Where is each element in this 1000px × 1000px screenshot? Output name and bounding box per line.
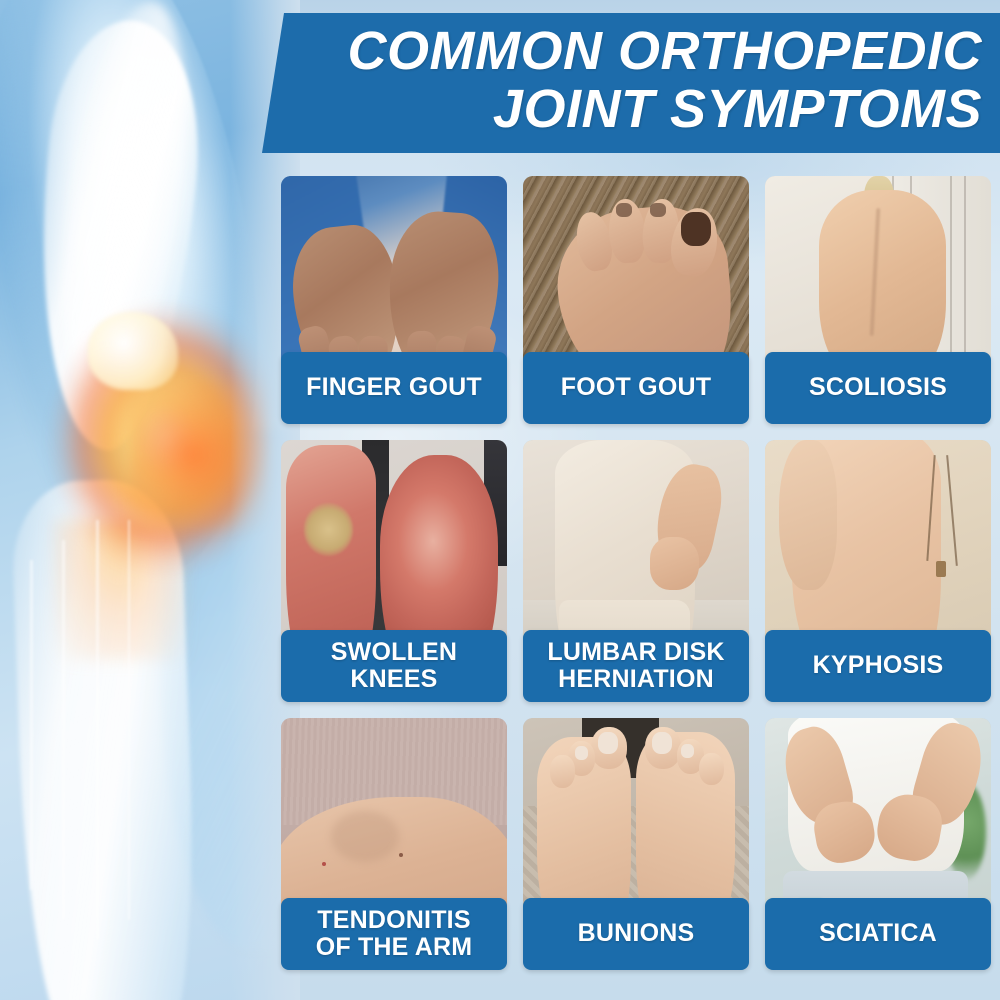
symptom-label-text: BUNIONS (578, 920, 695, 948)
symptom-card-sciatica[interactable]: SCIATICA (765, 718, 991, 970)
symptom-label-text: FOOT GOUT (561, 374, 711, 402)
symptom-card-tendonitis-of-the-arm[interactable]: TENDONITISOF THE ARM (281, 718, 507, 970)
symptom-label-text: FINGER GOUT (306, 374, 482, 402)
symptom-card-foot-gout[interactable]: FOOT GOUT (523, 176, 749, 424)
symptom-label-kyphosis: KYPHOSIS (765, 630, 991, 702)
symptom-label-text: SWOLLENKNEES (331, 639, 457, 694)
symptom-card-bunions[interactable]: BUNIONS (523, 718, 749, 970)
knee-xray-illustration (0, 0, 300, 1000)
symptom-card-swollen-knees[interactable]: SWOLLENKNEES (281, 440, 507, 702)
xray-line-4 (128, 520, 130, 920)
title-line-2: JOINT SYMPTOMS (493, 81, 982, 139)
symptom-label-sciatica: SCIATICA (765, 898, 991, 970)
symptom-label-text: KYPHOSIS (813, 652, 944, 680)
symptom-label-text: LUMBAR DISKHERNIATION (547, 639, 724, 694)
poster-title-banner: COMMON ORTHOPEDIC JOINT SYMPTOMS (262, 13, 1000, 153)
symptom-label-foot-gout: FOOT GOUT (523, 352, 749, 424)
symptom-card-grid: FINGER GOUT FOOT GOUT (281, 176, 981, 970)
symptom-label-lumbar-disk-herniation: LUMBAR DISKHERNIATION (523, 630, 749, 702)
symptom-label-scoliosis: SCOLIOSIS (765, 352, 991, 424)
symptom-label-text: SCOLIOSIS (809, 374, 947, 402)
symptom-card-lumbar-disk-herniation[interactable]: LUMBAR DISKHERNIATION (523, 440, 749, 702)
symptom-label-text: SCIATICA (819, 920, 937, 948)
symptom-label-swollen-knees: SWOLLENKNEES (281, 630, 507, 702)
symptom-label-tendonitis-of-the-arm: TENDONITISOF THE ARM (281, 898, 507, 970)
orthopedic-symptoms-poster: COMMON ORTHOPEDIC JOINT SYMPTOMS (0, 0, 1000, 1000)
symptom-label-bunions: BUNIONS (523, 898, 749, 970)
symptom-card-scoliosis[interactable]: SCOLIOSIS (765, 176, 991, 424)
symptom-card-kyphosis[interactable]: KYPHOSIS (765, 440, 991, 702)
symptom-card-finger-gout[interactable]: FINGER GOUT (281, 176, 507, 424)
symptom-label-finger-gout: FINGER GOUT (281, 352, 507, 424)
symptom-label-text: TENDONITISOF THE ARM (316, 907, 473, 962)
xray-patella-bone (88, 312, 178, 390)
xray-line-2 (62, 540, 65, 920)
xray-line-1 (30, 560, 33, 890)
title-line-1: COMMON ORTHOPEDIC (347, 23, 982, 81)
xray-line-3 (96, 520, 99, 940)
